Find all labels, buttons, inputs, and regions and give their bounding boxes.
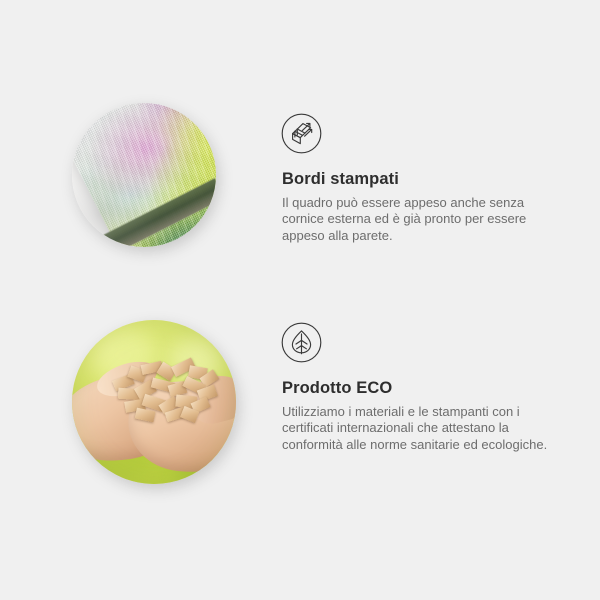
feature-description: Il quadro può essere appeso anche senza … [282,195,550,245]
feature-text-printed-edges: Bordi stampati Il quadro può essere appe… [281,113,571,244]
feature-text-eco-product: Prodotto ECO Utilizziamo i materiali e l… [281,322,571,453]
feature-description: Utilizziamo i materiali e le stampanti c… [282,404,550,454]
feature-block-eco-product: Prodotto ECO Utilizziamo i materiali e l… [0,310,600,500]
photo-soft-shadow [72,103,216,247]
printed-edges-icon [281,113,322,154]
feature-block-printed-edges: Bordi stampati Il quadro può essere appe… [0,95,600,295]
photo-vignette [72,320,236,484]
feature-title: Bordi stampati [282,170,571,190]
leaf-icon [281,322,322,363]
feature-highlights-page: Bordi stampati Il quadro può essere appe… [0,0,600,600]
feature-title: Prodotto ECO [282,379,571,399]
canvas-print-corner-photo [72,103,216,247]
hands-with-wood-chips-photo [72,320,236,484]
